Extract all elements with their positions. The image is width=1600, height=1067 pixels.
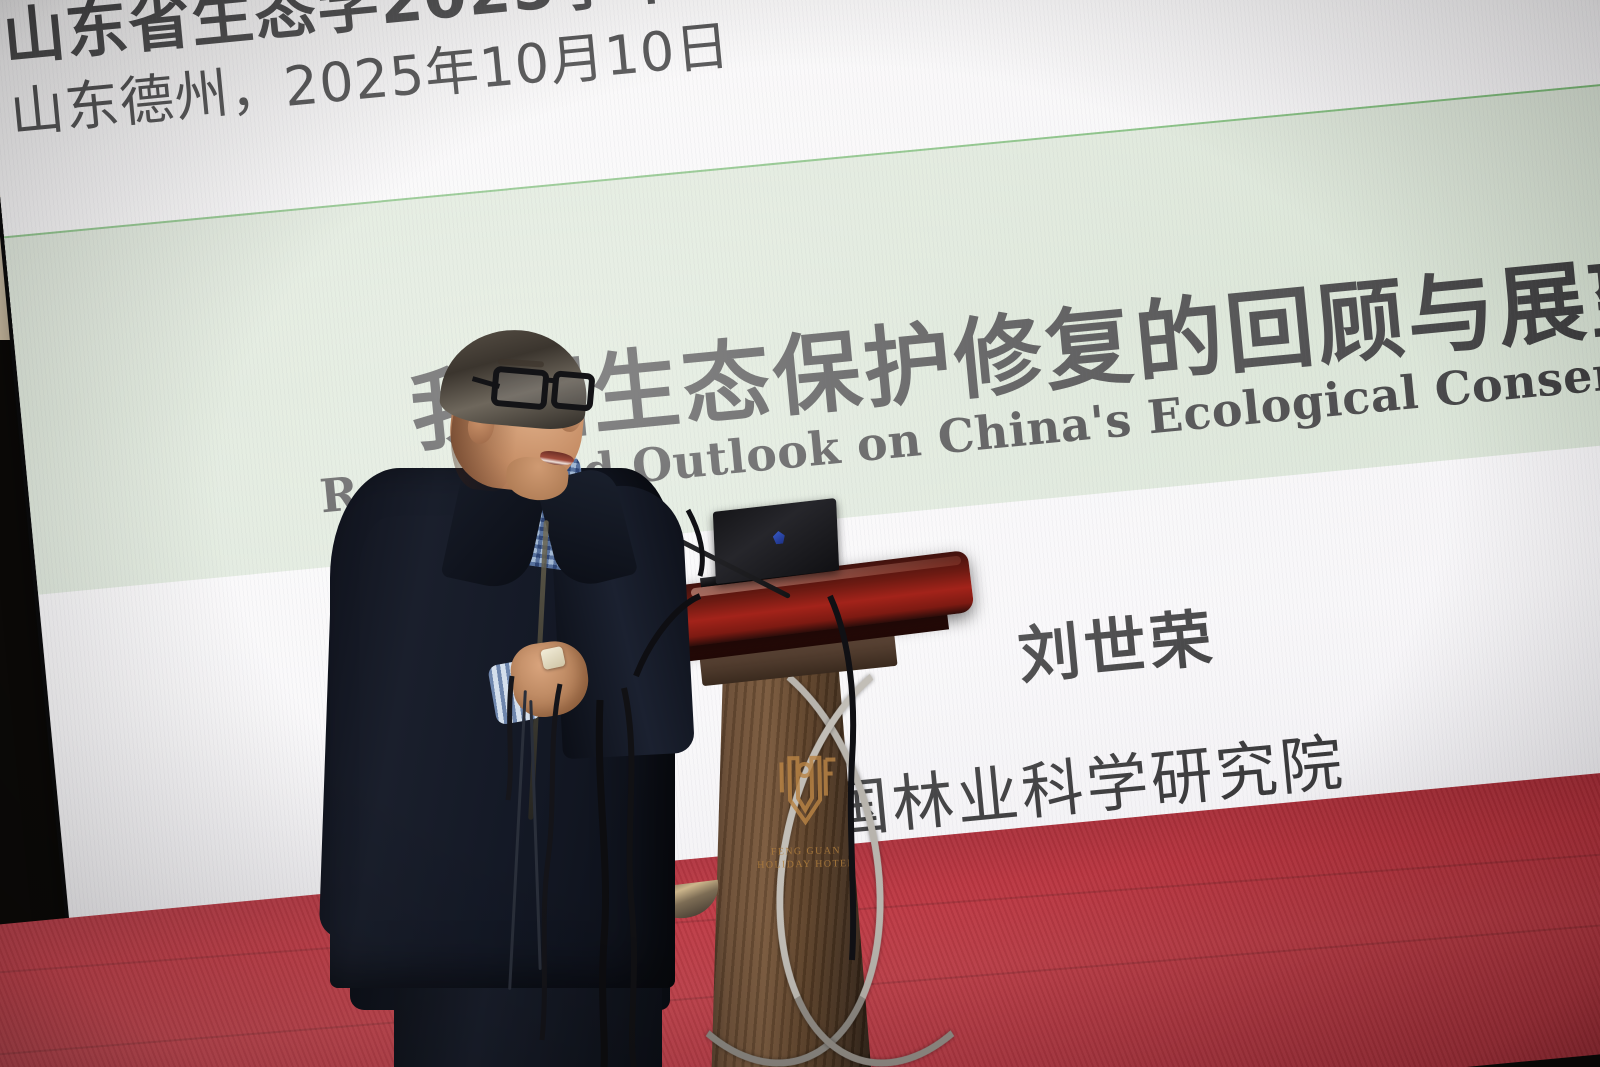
speaker-person <box>0 0 1600 1067</box>
photo-scene: 山东省生态学2025学术年会 山东德州，2025年10月10日 我国生态保护修复… <box>0 0 1600 1067</box>
eyeglasses-right-lens-icon <box>550 370 595 412</box>
eyeglasses-bridge <box>546 377 558 383</box>
eyeglasses-left-lens-icon <box>490 366 549 411</box>
